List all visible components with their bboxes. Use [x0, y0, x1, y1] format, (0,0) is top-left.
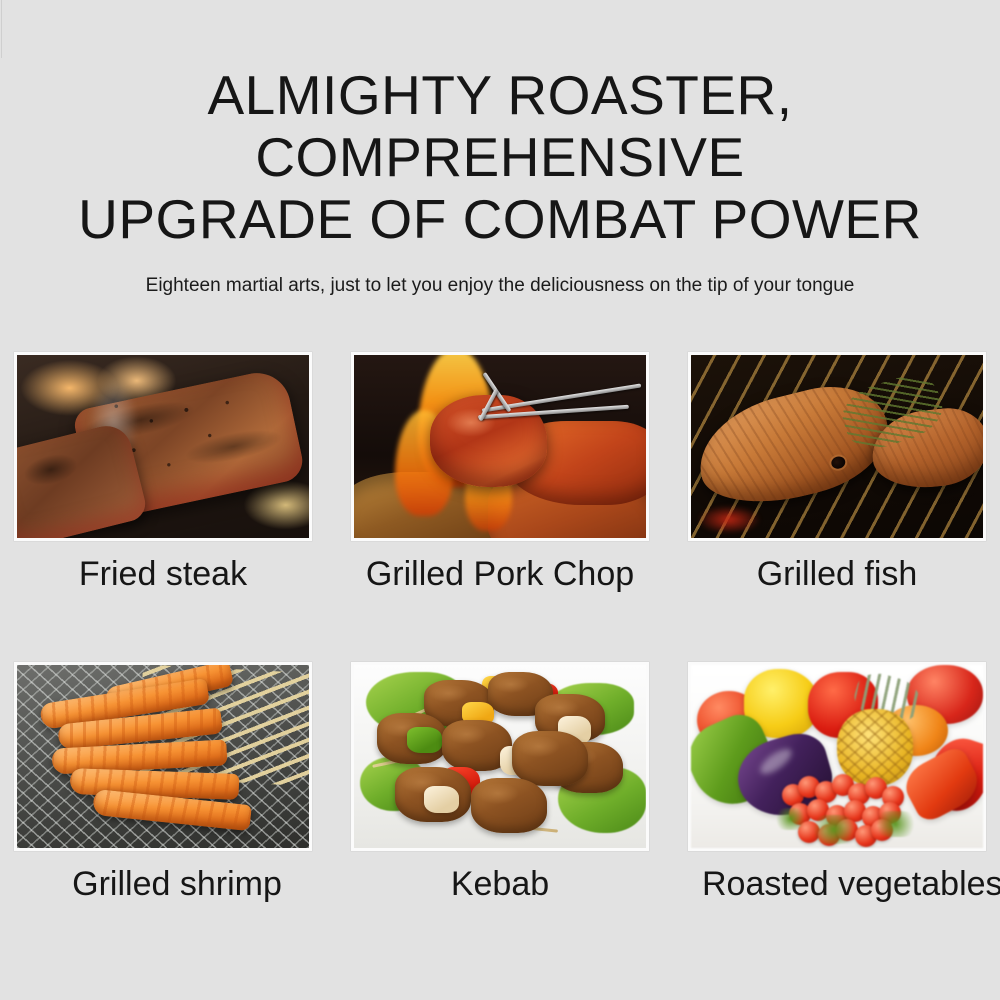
- grilled-pork-chop-photo: [354, 355, 646, 538]
- pepper-speckle-overlay: [17, 355, 309, 538]
- gallery-tile-fried-steak[interactable]: Fried steak: [14, 352, 312, 594]
- page-title: ALMIGHTY ROASTER, COMPREHENSIVE UPGRADE …: [0, 0, 1000, 250]
- roasted-vegetables-photo: [691, 665, 983, 848]
- tile-caption: Fried steak: [14, 554, 312, 594]
- image-frame: [14, 662, 312, 851]
- tile-caption: Kebab: [351, 864, 649, 904]
- image-frame: [351, 662, 649, 851]
- kebab-photo: [354, 665, 646, 848]
- image-frame: [688, 352, 986, 541]
- gallery-tile-grilled-fish[interactable]: Grilled fish: [688, 352, 986, 594]
- meat-chunk: [471, 778, 547, 833]
- image-frame: [14, 352, 312, 541]
- grilled-fish-photo: [691, 355, 983, 538]
- tile-caption: Grilled fish: [688, 554, 986, 594]
- parsley-garnish: [872, 811, 919, 837]
- header: ALMIGHTY ROASTER, COMPREHENSIVE UPGRADE …: [0, 0, 1000, 298]
- tile-caption: Roasted vegetables: [702, 864, 1000, 904]
- image-frame: [351, 352, 649, 541]
- tile-caption: Grilled shrimp: [28, 864, 326, 904]
- tile-caption: Grilled Pork Chop: [351, 554, 649, 594]
- vegetable-chunk: [407, 727, 442, 753]
- gallery-row: Fried steak Grilled Pork Chop: [0, 352, 1000, 662]
- page-subtitle: Eighteen martial arts, just to let you e…: [0, 250, 1000, 298]
- tongs-icon: [471, 381, 646, 436]
- parsley-garnish: [808, 815, 861, 844]
- grilled-shrimp-photo: [17, 665, 309, 848]
- vegetable-chunk: [424, 786, 459, 813]
- fish-eye: [830, 455, 846, 470]
- gallery-tile-grilled-shrimp[interactable]: Grilled shrimp: [14, 662, 312, 904]
- ember-glow: [697, 505, 761, 534]
- smoke-wisp: [70, 359, 158, 487]
- gallery-tile-kebab[interactable]: Kebab: [351, 662, 649, 904]
- fried-steak-photo: [17, 355, 309, 538]
- food-gallery: Fried steak Grilled Pork Chop: [0, 352, 1000, 972]
- parsley-garnish: [773, 808, 808, 830]
- gallery-row: Grilled shrimp: [0, 662, 1000, 972]
- meat-chunk: [512, 731, 588, 786]
- gallery-tile-grilled-pork-chop[interactable]: Grilled Pork Chop: [351, 352, 649, 594]
- gallery-tile-roasted-vegetables[interactable]: Roasted vegetables: [688, 662, 986, 904]
- image-frame: [688, 662, 986, 851]
